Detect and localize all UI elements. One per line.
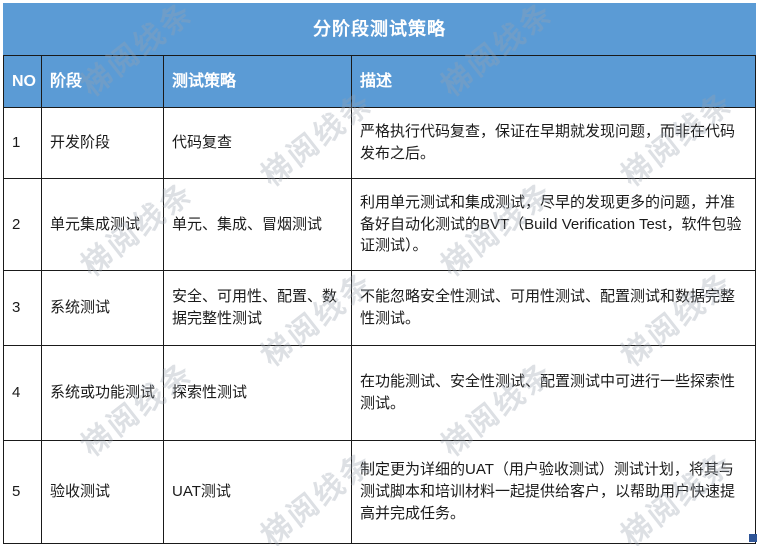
spreadsheet-canvas: 分阶段测试策略 NO 阶段 测试策略 描述 1 开发阶段 代码复查 严格执行代码… (0, 0, 761, 546)
cell-no: 3 (4, 271, 42, 346)
table-header-row: NO 阶段 测试策略 描述 (4, 56, 756, 108)
table-row: 2 单元集成测试 单元、集成、冒烟测试 利用单元测试和集成测试，尽早的发现更多的… (4, 179, 756, 271)
column-header-strategy: 测试策略 (164, 56, 352, 108)
table-row: 4 系统或功能测试 探索性测试 在功能测试、安全性测试、配置测试中可进行一些探索… (4, 346, 756, 441)
cell-no: 1 (4, 108, 42, 179)
cell-no: 5 (4, 441, 42, 544)
cell-no: 2 (4, 179, 42, 271)
cell-phase: 系统测试 (42, 271, 164, 346)
column-header-no: NO (4, 56, 42, 108)
cell-description: 不能忽略安全性测试、可用性测试、配置测试和数据完整性测试。 (352, 271, 756, 346)
test-strategy-table: 分阶段测试策略 NO 阶段 测试策略 描述 1 开发阶段 代码复查 严格执行代码… (3, 3, 756, 544)
cell-phase: 系统或功能测试 (42, 346, 164, 441)
table-body: 1 开发阶段 代码复查 严格执行代码复查，保证在早期就发现问题，而非在代码发布之… (4, 108, 756, 544)
cell-strategy: 代码复查 (164, 108, 352, 179)
cell-description: 制定更为详细的UAT（用户验收测试）测试计划，将其与测试脚本和培训材料一起提供给… (352, 441, 756, 544)
selection-handle[interactable] (749, 534, 757, 542)
cell-description: 在功能测试、安全性测试、配置测试中可进行一些探索性测试。 (352, 346, 756, 441)
cell-strategy: 安全、可用性、配置、数据完整性测试 (164, 271, 352, 346)
cell-phase: 验收测试 (42, 441, 164, 544)
cell-description: 利用单元测试和集成测试，尽早的发现更多的问题，并准备好自动化测试的BVT（Bui… (352, 179, 756, 271)
cell-strategy: UAT测试 (164, 441, 352, 544)
table-title: 分阶段测试策略 (4, 4, 756, 56)
cell-strategy: 单元、集成、冒烟测试 (164, 179, 352, 271)
cell-phase: 开发阶段 (42, 108, 164, 179)
table-title-row: 分阶段测试策略 (4, 4, 756, 56)
cell-strategy: 探索性测试 (164, 346, 352, 441)
table-row: 3 系统测试 安全、可用性、配置、数据完整性测试 不能忽略安全性测试、可用性测试… (4, 271, 756, 346)
column-header-phase: 阶段 (42, 56, 164, 108)
table-row: 1 开发阶段 代码复查 严格执行代码复查，保证在早期就发现问题，而非在代码发布之… (4, 108, 756, 179)
cell-no: 4 (4, 346, 42, 441)
cell-phase: 单元集成测试 (42, 179, 164, 271)
table-row: 5 验收测试 UAT测试 制定更为详细的UAT（用户验收测试）测试计划，将其与测… (4, 441, 756, 544)
cell-description: 严格执行代码复查，保证在早期就发现问题，而非在代码发布之后。 (352, 108, 756, 179)
column-header-description: 描述 (352, 56, 756, 108)
